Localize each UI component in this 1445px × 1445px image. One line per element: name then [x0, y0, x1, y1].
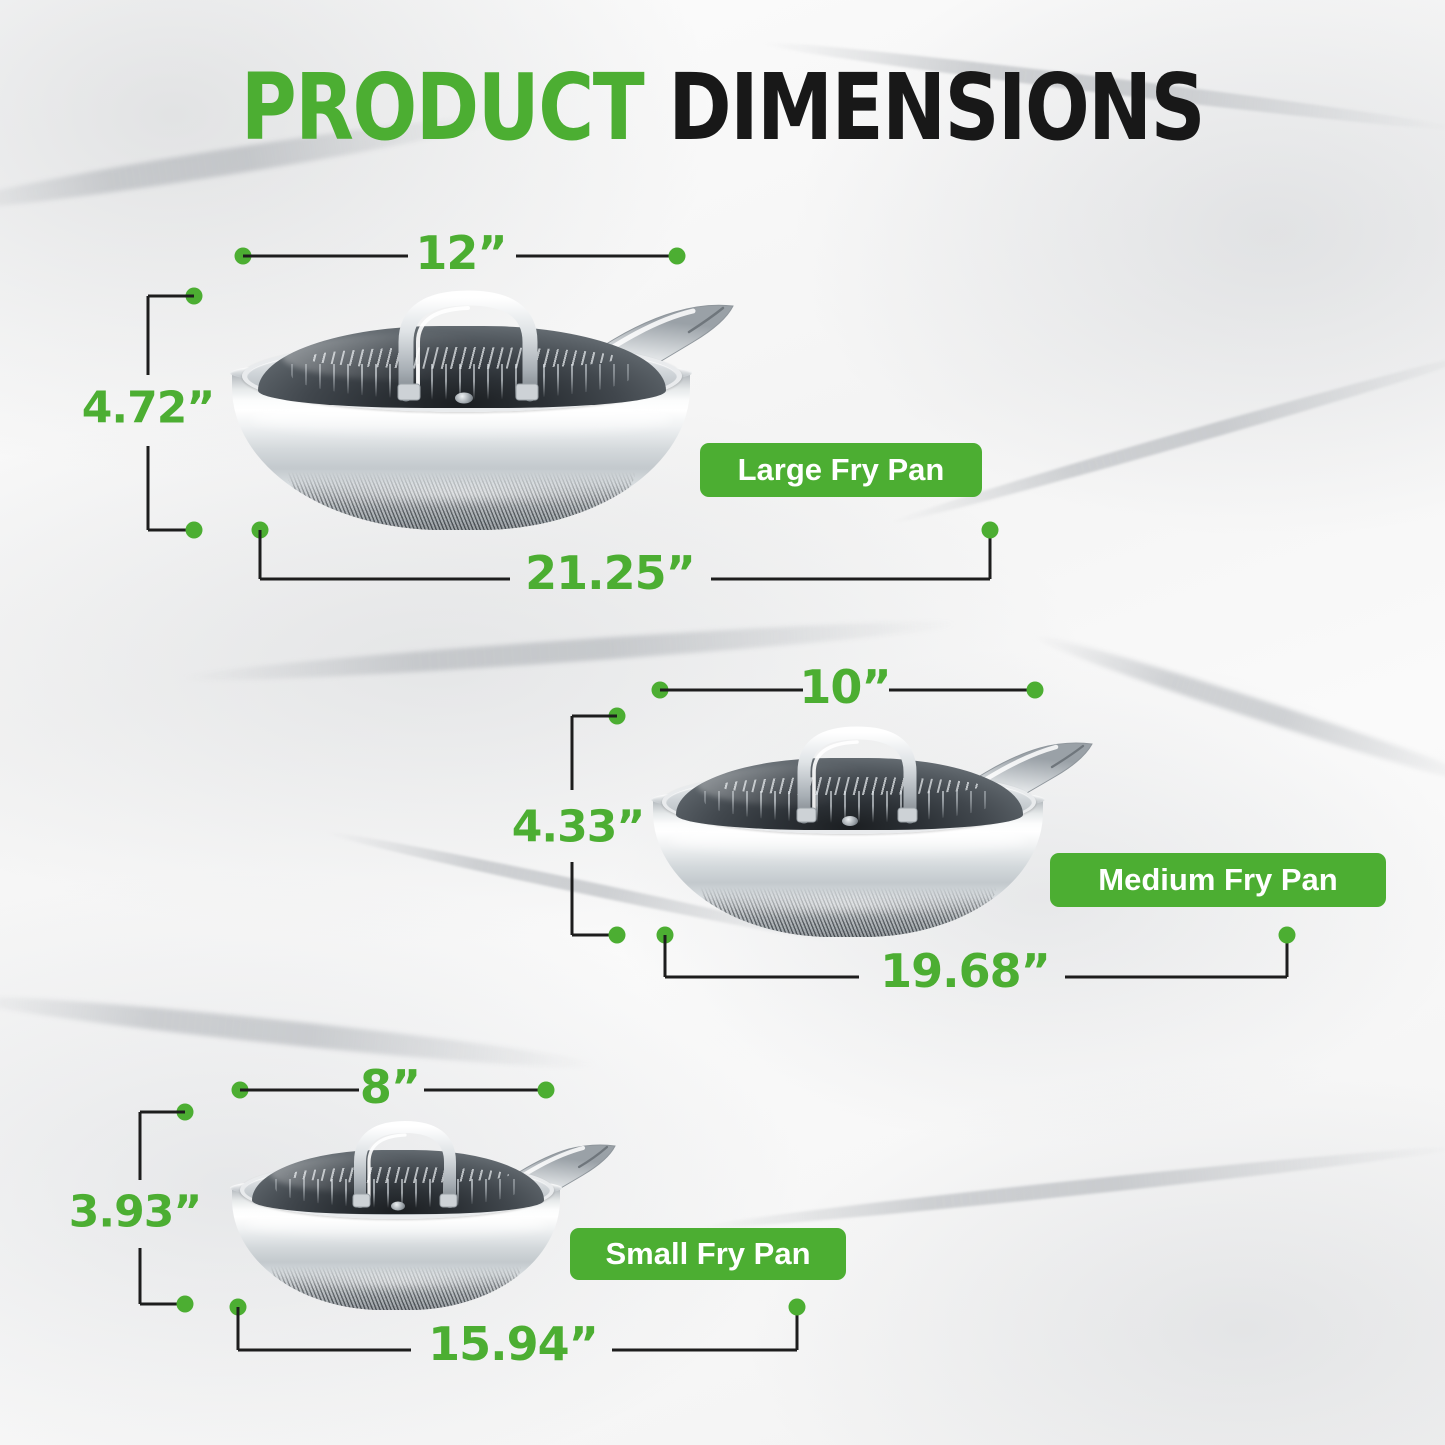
pan-base-texture — [271, 1266, 520, 1310]
dimension-endpoint-dot — [177, 1296, 194, 1313]
lid-loop-handle — [342, 1122, 468, 1206]
dimension-line — [238, 1349, 411, 1352]
dimension-label-height-medium: 4.33” — [512, 802, 644, 853]
dimension-line — [516, 255, 677, 258]
dimension-endpoint-dot — [538, 1082, 555, 1099]
dimension-endpoint-dot — [1027, 682, 1044, 699]
dimension-line — [889, 689, 1035, 692]
dimension-label-length-small: 15.94” — [428, 1317, 598, 1371]
title-word-green: PRODUCT — [241, 54, 643, 161]
dimension-line — [664, 935, 667, 977]
dimension-endpoint-dot — [982, 522, 999, 539]
pan-image-medium — [653, 735, 1045, 941]
dimension-line — [660, 689, 803, 692]
badge-large-fry-pan[interactable]: Large Fry Pan — [700, 443, 982, 497]
dimension-line — [243, 255, 408, 258]
dimension-line — [1065, 976, 1287, 979]
dimension-endpoint-dot — [609, 927, 626, 944]
dimension-label-length-medium: 19.68” — [880, 944, 1050, 998]
pan-image-small — [232, 1128, 562, 1314]
lid-loop-handle — [784, 727, 930, 821]
dimension-endpoint-dot — [1279, 927, 1296, 944]
dimension-line — [147, 296, 150, 375]
dimension-line — [571, 716, 574, 790]
dimension-label-width-large: 12” — [415, 226, 506, 280]
page-title: PRODUCT DIMENSIONS — [58, 62, 1387, 154]
dimension-line — [147, 446, 150, 530]
infographic-canvas: PRODUCT DIMENSIONS 12” 4.72” 21.25 — [0, 0, 1445, 1445]
pan-image-large — [232, 300, 692, 536]
dimension-label-width-small: 8” — [360, 1060, 420, 1114]
dimension-label-length-large: 21.25” — [525, 546, 695, 600]
badge-small-fry-pan[interactable]: Small Fry Pan — [570, 1228, 846, 1280]
title-word-dark: DIMENSIONS — [668, 54, 1204, 161]
dimension-line — [148, 295, 194, 298]
dimension-endpoint-dot — [789, 1299, 806, 1316]
lid-loop-handle — [384, 292, 552, 398]
pan-base-texture — [287, 472, 635, 530]
dimension-endpoint-dot — [669, 248, 686, 265]
dimension-line — [240, 1089, 359, 1092]
dimension-line — [139, 1112, 142, 1180]
dimension-label-height-small: 3.93” — [69, 1187, 201, 1238]
dimension-endpoint-dot — [186, 522, 203, 539]
pan-base-texture — [700, 887, 996, 937]
dimension-line — [139, 1248, 142, 1304]
dimension-line — [571, 862, 574, 935]
dimension-label-width-medium: 10” — [799, 660, 890, 714]
dimension-line — [711, 578, 990, 581]
dimension-line — [572, 715, 617, 718]
badge-medium-fry-pan[interactable]: Medium Fry Pan — [1050, 853, 1386, 907]
dimension-line — [260, 578, 510, 581]
dimension-label-height-large: 4.72” — [82, 383, 214, 434]
dimension-line — [424, 1089, 546, 1092]
dimension-line — [665, 976, 859, 979]
dimension-line — [140, 1111, 185, 1114]
dimension-line — [259, 530, 262, 579]
dimension-line — [612, 1349, 797, 1352]
